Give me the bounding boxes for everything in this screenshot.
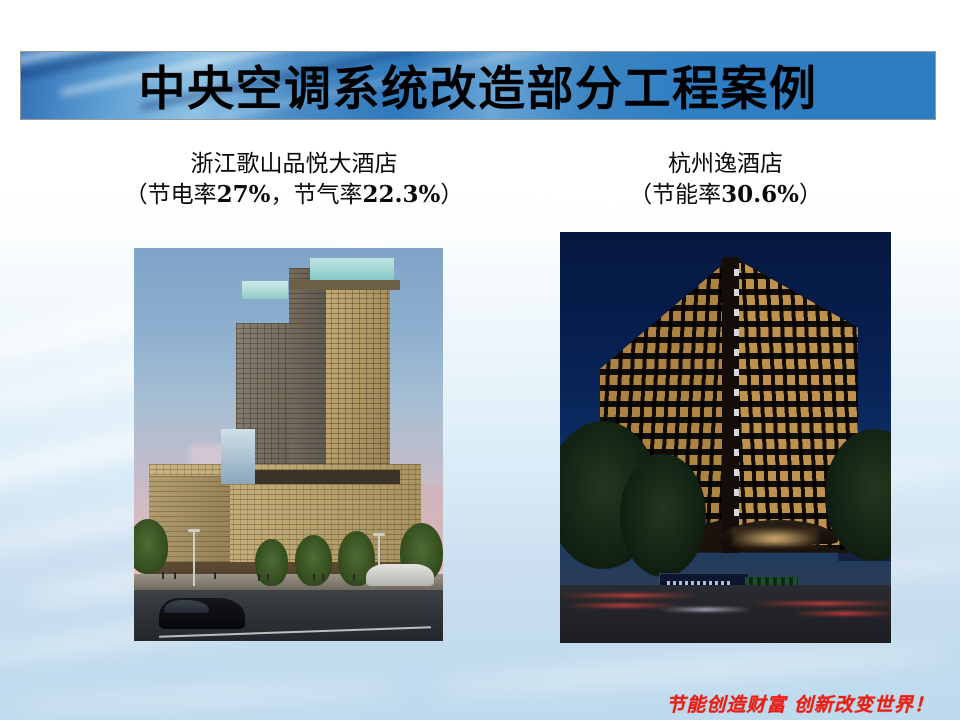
case-right-photo: [560, 232, 891, 643]
case-left-metric-middle: ，节气率: [271, 182, 363, 208]
page-title: 中央空调系统改造部分工程案例: [21, 52, 935, 119]
car-light-trail: [752, 602, 891, 605]
car-light-trail: [659, 608, 752, 611]
case-right-metric-value-1: 30.6%: [721, 181, 799, 208]
case-right-metric-suffix: ）: [799, 182, 822, 208]
night-tree: [620, 454, 706, 577]
street-tree: [134, 519, 168, 574]
car-light-trail: [792, 612, 891, 615]
tower-wing-glass-crown: [242, 281, 288, 299]
case-left-name: 浙江歌山品悦大酒店: [94, 150, 494, 179]
slide-canvas: 中央空调系统改造部分工程案例 浙江歌山品悦大酒店 （节电率27%，节气率22.3…: [0, 0, 960, 720]
case-left-photo: [134, 248, 443, 641]
case-left-metric-prefix: （节电率: [125, 182, 217, 208]
podium-glass-turret: [221, 429, 255, 484]
footer-slogan: 节能创造财富 创新改变世界！: [0, 690, 934, 717]
pedestrian: [267, 574, 269, 581]
case-left-metric-value-1: 27%: [217, 181, 271, 208]
pedestrian: [174, 572, 176, 579]
car-light-trail: [560, 594, 699, 597]
case-right: 杭州逸酒店 （节能率30.6%）: [560, 150, 891, 210]
foreground-car: [159, 598, 246, 629]
pedestrian: [162, 572, 164, 579]
street-lamp: [193, 531, 195, 586]
street-tree: [255, 539, 289, 586]
parked-car: [366, 564, 434, 586]
case-left-metric: （节电率27%，节气率22.3%）: [94, 181, 494, 210]
pedestrian: [214, 572, 216, 579]
pedestrian: [313, 574, 315, 581]
car-light-trail: [567, 604, 680, 607]
slide-title-banner: 中央空调系统改造部分工程案例: [20, 51, 936, 120]
pedestrian: [322, 574, 324, 581]
case-right-name: 杭州逸酒店: [560, 150, 891, 179]
case-left-metric-suffix: ）: [440, 182, 463, 208]
tower-cap-trellis: [289, 280, 400, 290]
case-right-metric: （节能率30.6%）: [560, 181, 891, 210]
case-right-metric-prefix: （节能率: [629, 182, 721, 208]
pedestrian: [353, 574, 355, 581]
pedestrian: [258, 574, 260, 581]
hotel-corner-lights: [734, 269, 739, 540]
case-left: 浙江歌山品悦大酒店 （节电率27%，节气率22.3%）: [94, 150, 494, 210]
entrance-glow: [732, 528, 818, 546]
case-left-metric-value-2: 22.3%: [363, 181, 441, 208]
